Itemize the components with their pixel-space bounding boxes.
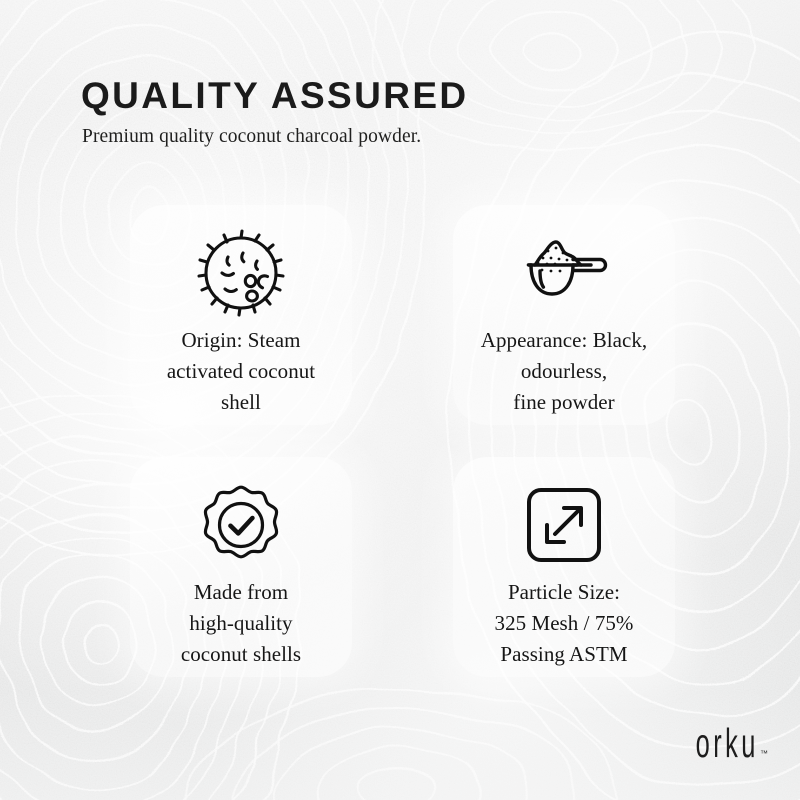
feature-card-quality[interactable]: Made from high-quality coconut shells [130,457,352,677]
brand-logo: orku ™ [657,724,768,762]
card-line: activated coconut [134,356,348,387]
card-line: Made from [134,577,348,608]
feature-card-appearance-text: Appearance: Black, odourless, fine powde… [457,325,671,418]
page-title: QUALITY ASSURED [81,76,721,116]
quality-badge-check-icon [195,479,287,571]
card-line: odourless, [457,356,671,387]
feature-card-quality-text: Made from high-quality coconut shells [134,577,348,670]
brand-logo-wordmark: orku [696,724,759,762]
card-line: high-quality [134,608,348,639]
coconut-shell-icon [195,227,287,319]
feature-card-appearance[interactable]: Appearance: Black, odourless, fine powde… [453,205,675,425]
header: QUALITY ASSURED Premium quality coconut … [81,76,721,149]
page-subtitle: Premium quality coconut charcoal powder. [82,125,721,149]
measuring-scoop-powder-icon [518,227,610,319]
infographic-canvas: QUALITY ASSURED Premium quality coconut … [0,0,800,800]
feature-card-particle-size[interactable]: Particle Size: 325 Mesh / 75% Passing AS… [453,457,675,677]
resize-arrows-icon [518,479,610,571]
feature-card-grid: Origin: Steam activated coconut shell [130,205,675,677]
card-line: shell [134,387,348,418]
card-line: coconut shells [134,639,348,670]
card-line: Appearance: Black, [457,325,671,356]
card-line: fine powder [457,387,671,418]
card-line: Particle Size: [457,577,671,608]
feature-card-particle-size-text: Particle Size: 325 Mesh / 75% Passing AS… [457,577,671,670]
card-line: 325 Mesh / 75% [457,608,671,639]
trademark-symbol: ™ [760,750,768,758]
card-line: Origin: Steam [134,325,348,356]
feature-card-origin-text: Origin: Steam activated coconut shell [134,325,348,418]
feature-card-origin[interactable]: Origin: Steam activated coconut shell [130,205,352,425]
card-line: Passing ASTM [457,639,671,670]
